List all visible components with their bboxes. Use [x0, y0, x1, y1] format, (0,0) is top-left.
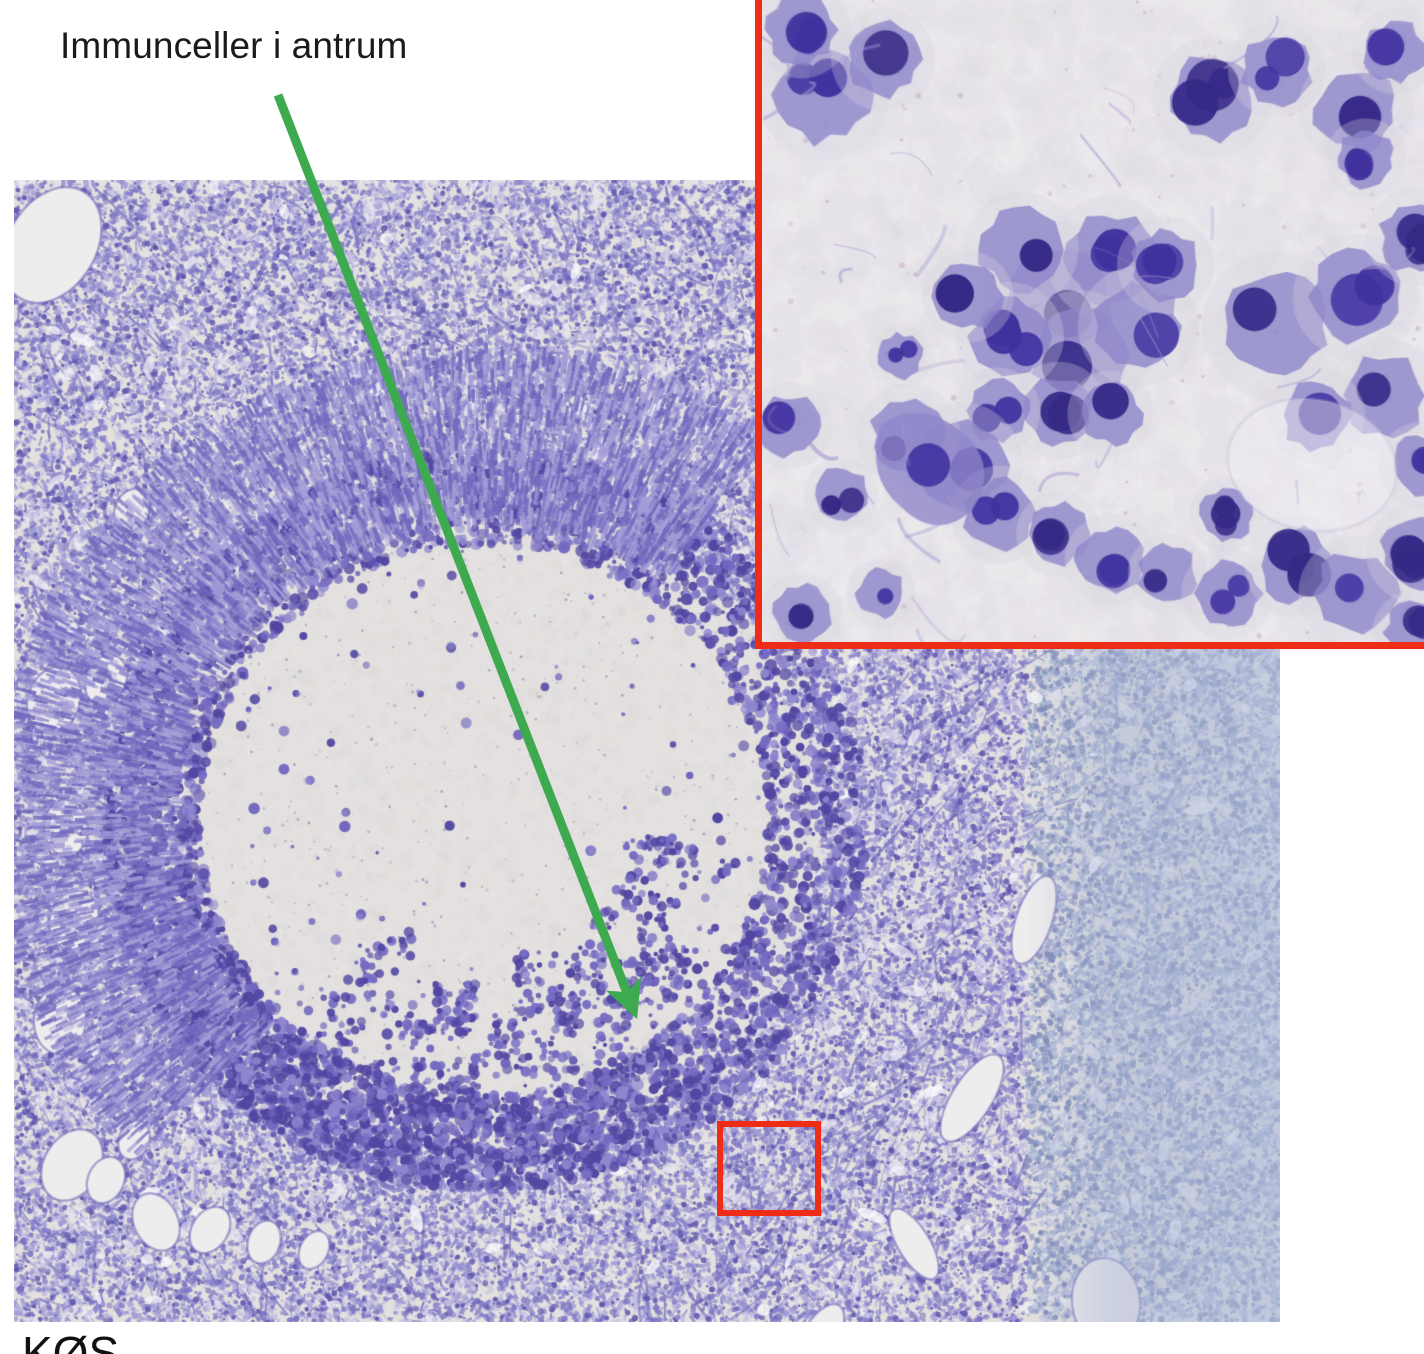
page-title: Immunceller i antrum [60, 22, 407, 70]
slide-footer-caption: KØS [22, 1327, 119, 1354]
histology-micrograph-zoom-inset [755, 0, 1424, 649]
inset-canvas [762, 0, 1424, 642]
